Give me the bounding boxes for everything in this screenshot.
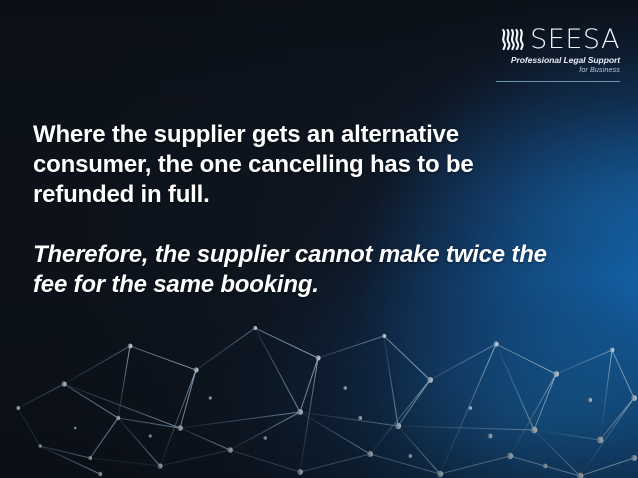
- seesa-wave-mark-icon: [500, 27, 525, 52]
- logo-tagline-secondary: for Business: [494, 65, 620, 74]
- seesa-wordmark: SEESA: [530, 26, 620, 53]
- logo-row: SEESA: [494, 25, 620, 54]
- logo-tagline: Professional Legal Support: [494, 55, 620, 65]
- paragraph-primary: Where the supplier gets an alternative c…: [33, 120, 563, 210]
- slide-body-copy: Where the supplier gets an alternative c…: [33, 120, 563, 300]
- logo-divider-rule: [496, 81, 620, 82]
- presentation-slide: SEESA Professional Legal Support for Bus…: [0, 0, 638, 478]
- paragraph-secondary: Therefore, the supplier cannot make twic…: [33, 240, 563, 300]
- paragraph-spacer: [33, 210, 563, 240]
- seesa-logo: SEESA Professional Legal Support for Bus…: [494, 25, 620, 82]
